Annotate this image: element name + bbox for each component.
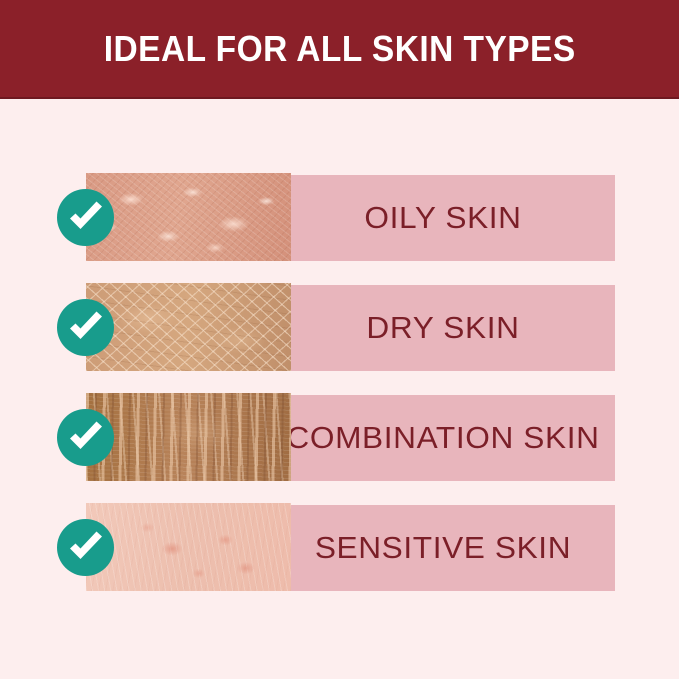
skin-texture-image [86, 283, 291, 371]
check-circle-icon [57, 299, 114, 356]
page-title: IDEAL FOR ALL SKIN TYPES [104, 28, 576, 70]
check-circle-icon [57, 519, 114, 576]
skin-swatch-combination [86, 393, 291, 481]
skin-type-list: OILY SKIN DRY SKIN COMBINATION SKIN [0, 99, 679, 679]
skin-texture-image [86, 503, 291, 591]
skin-texture-image [86, 173, 291, 261]
header-banner: IDEAL FOR ALL SKIN TYPES [0, 0, 679, 99]
skin-type-label: DRY SKIN [278, 310, 608, 346]
skin-type-label: COMBINATION SKIN [278, 420, 608, 456]
list-item: DRY SKIN [57, 283, 615, 371]
skin-swatch-oily [86, 173, 291, 261]
skin-types-infographic: { "header": { "title": "IDEAL FOR ALL SK… [0, 0, 679, 679]
skin-type-label: SENSITIVE SKIN [278, 530, 608, 566]
skin-texture-image [86, 393, 291, 481]
list-item: SENSITIVE SKIN [57, 503, 615, 591]
skin-swatch-sensitive [86, 503, 291, 591]
skin-swatch-dry [86, 283, 291, 371]
check-circle-icon [57, 189, 114, 246]
check-circle-icon [57, 409, 114, 466]
list-item: OILY SKIN [57, 173, 615, 261]
list-item: COMBINATION SKIN [57, 393, 615, 481]
skin-type-label: OILY SKIN [278, 200, 608, 236]
